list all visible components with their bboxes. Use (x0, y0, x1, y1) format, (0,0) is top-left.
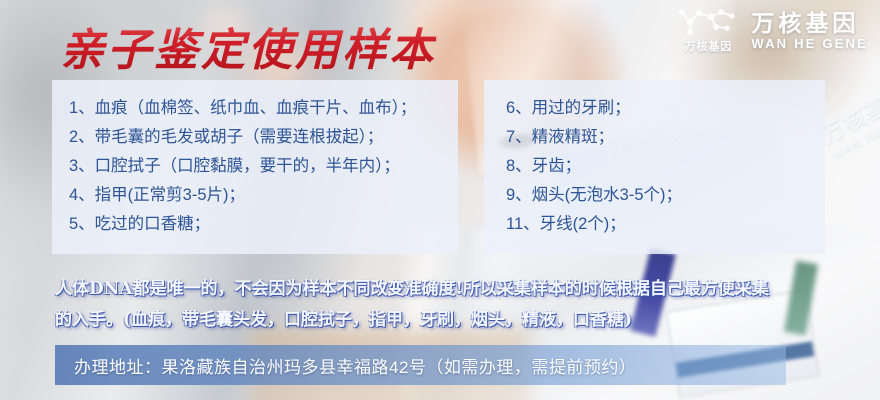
list-item: 9、烟头(无泡水3-5个)； (484, 181, 825, 210)
list-item: 2、带毛囊的毛发或胡子（需要连根拔起）； (52, 123, 458, 152)
sample-list-left: 1、血痕（血棉签、纸巾血、血痕干片、血布）； 2、带毛囊的毛发或胡子（需要连根拔… (52, 94, 458, 239)
brand-mark: 万核基因 (675, 8, 741, 54)
address-text: 办理地址：果洛藏族自治州玛多县幸福路42号（如需办理，需提前预约） (55, 353, 636, 378)
brand-mark-label: 万核基因 (684, 38, 732, 54)
brand-name-cn: 万核基因 (751, 11, 868, 35)
list-item: 5、吃过的口香糖； (52, 210, 458, 239)
sample-list-card-right: 6、用过的牙刷； 7、精液精斑； 8、牙齿； 9、烟头(无泡水3-5个)； 11… (484, 80, 825, 254)
list-item: 7、精液精斑； (484, 123, 825, 152)
brand-wordmark: 万核基因 WAN HE GENE (751, 11, 868, 51)
list-item: 11、牙线(2个)； (484, 210, 825, 239)
brand-logo: 万核基因 万核基因 WAN HE GENE (675, 8, 868, 54)
list-item: 4、指甲(正常剪3-5片)； (52, 181, 458, 210)
sample-list-card-left: 1、血痕（血棉签、纸巾血、血痕干片、血布）； 2、带毛囊的毛发或胡子（需要连根拔… (52, 80, 458, 254)
paragraph-line-1: 人体DNA都是唯一的，不会因为样本不同改变准确度!所以采集样本的时候根据自己最方… (55, 274, 845, 305)
list-item: 8、牙齿； (484, 152, 825, 181)
poster-root: 万核基因 WAN HE GENE 万核基因 WAN HE GENE 万核基因 W… (0, 0, 880, 400)
address-bar: 办理地址：果洛藏族自治州玛多县幸福路42号（如需办理，需提前预约） (55, 345, 786, 385)
sample-list-right: 6、用过的牙刷； 7、精液精斑； 8、牙齿； 9、烟头(无泡水3-5个)； 11… (484, 94, 825, 239)
brand-name-en: WAN HE GENE (751, 36, 868, 51)
explanatory-paragraph: 人体DNA都是唯一的，不会因为样本不同改变准确度!所以采集样本的时候根据自己最方… (55, 274, 845, 336)
list-item: 3、口腔拭子（口腔黏膜，要干的，半年内）； (52, 152, 458, 181)
molecule-icon (675, 8, 741, 36)
page-title: 亲子鉴定使用样本 (60, 14, 436, 78)
list-item: 6、用过的牙刷； (484, 94, 825, 123)
list-item: 1、血痕（血棉签、纸巾血、血痕干片、血布）； (52, 94, 458, 123)
paragraph-line-2: 的入手。(血痕，带毛囊头发，口腔拭子，指甲，牙刷，烟头，精液，口香糖) (55, 305, 845, 336)
